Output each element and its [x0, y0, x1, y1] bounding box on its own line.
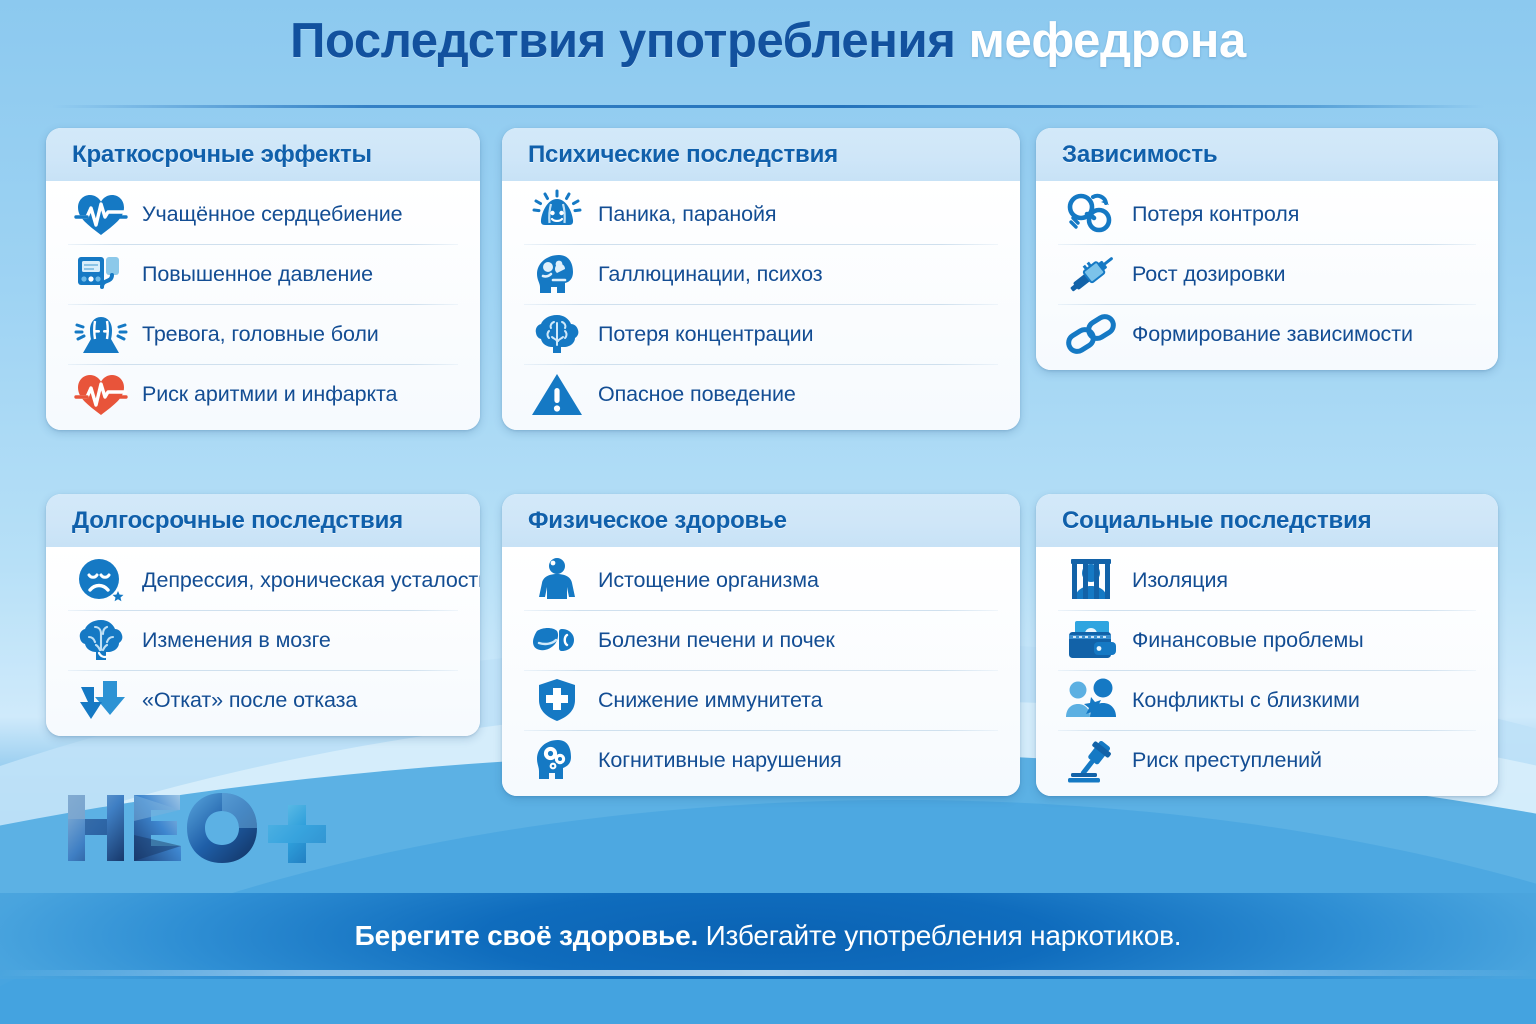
card-long-term-consequences: Долгосрочные последствия Депрессия, хрон…	[46, 494, 480, 736]
footer-regular-text: Избегайте употребления наркотиков.	[706, 920, 1182, 951]
card-dependence: Зависимость Потеря контроля Рост дозиров…	[1036, 128, 1498, 370]
neo-plus-logo	[62, 789, 332, 867]
card-body: Изоляция Финансовые проблемы Конфликты с…	[1036, 547, 1498, 796]
card-title: Физическое здоровье	[528, 507, 1020, 535]
syringe-icon	[1058, 244, 1124, 304]
list-item[interactable]: Изменения в мозге	[46, 610, 480, 670]
card-title: Зависимость	[1062, 141, 1498, 169]
list-item-label: Повышенное давление	[134, 262, 373, 287]
down-arrows-icon	[68, 670, 134, 730]
list-item-label: Учащённое сердцебиение	[134, 202, 403, 227]
list-item[interactable]: Потеря концентрации	[502, 304, 1020, 364]
list-item-label: Болезни печени и почек	[590, 628, 835, 653]
anxious-head-icon	[68, 304, 134, 364]
list-item-label: Риск преступлений	[1124, 748, 1322, 773]
list-item[interactable]: Паника, паранойя	[502, 184, 1020, 244]
list-item-label: Изменения в мозге	[134, 628, 331, 653]
list-item[interactable]: Рост дозировки	[1036, 244, 1498, 304]
chain-link-icon	[1058, 304, 1124, 364]
heart-attack-red-icon	[68, 364, 134, 424]
card-header: Физическое здоровье	[502, 494, 1020, 547]
hallucinating-head-icon	[524, 244, 590, 304]
list-item[interactable]: Когнитивные нарушения	[502, 730, 1020, 790]
liver-kidney-icon	[524, 610, 590, 670]
list-item-label: Опасное поведение	[590, 382, 796, 407]
list-item-label: Потеря контроля	[1124, 202, 1299, 227]
footer-bold-text: Берегите своё здоровье.	[355, 920, 706, 951]
list-item-label: «Откат» после отказа	[134, 688, 357, 713]
list-item-label: Истощение организма	[590, 568, 819, 593]
heart-pulse-icon	[68, 184, 134, 244]
footer-gloss-line	[0, 970, 1536, 976]
list-item[interactable]: Формирование зависимости	[1036, 304, 1498, 364]
list-item[interactable]: Риск преступлений	[1036, 730, 1498, 790]
card-physical-health: Физическое здоровье Истощение организма …	[502, 494, 1020, 796]
list-item[interactable]: Депрессия, хроническая усталость	[46, 550, 480, 610]
list-item[interactable]: Конфликты с близкими	[1036, 670, 1498, 730]
list-item[interactable]: Риск аритмии и инфаркта	[46, 364, 480, 424]
panic-figure-icon	[524, 184, 590, 244]
brain-changes-icon	[68, 610, 134, 670]
list-item[interactable]: «Откат» после отказа	[46, 670, 480, 730]
list-item[interactable]: Снижение иммунитета	[502, 670, 1020, 730]
card-title: Долгосрочные последствия	[72, 507, 480, 535]
list-item[interactable]: Тревога, головные боли	[46, 304, 480, 364]
handcuffs-icon	[1058, 184, 1124, 244]
list-item[interactable]: Изоляция	[1036, 550, 1498, 610]
list-item-label: Финансовые проблемы	[1124, 628, 1364, 653]
list-item-label: Потеря концентрации	[590, 322, 813, 347]
card-short-term-effects: Краткосрочные эффекты Учащённое сердцеби…	[46, 128, 480, 430]
card-body: Истощение организма Болезни печени и поч…	[502, 547, 1020, 796]
list-item[interactable]: Болезни печени и почек	[502, 610, 1020, 670]
card-social-consequences: Социальные последствия Изоляция Финансов…	[1036, 494, 1498, 796]
list-item-label: Риск аритмии и инфаркта	[134, 382, 397, 407]
thin-person-icon	[524, 550, 590, 610]
card-mental-consequences: Психические последствия Паника, паранойя…	[502, 128, 1020, 430]
card-body: Депрессия, хроническая усталость Изменен…	[46, 547, 480, 736]
list-item-label: Когнитивные нарушения	[590, 748, 842, 773]
card-header: Зависимость	[1036, 128, 1498, 181]
brain-icon	[524, 304, 590, 364]
sad-face-icon	[68, 550, 134, 610]
list-item-label: Изоляция	[1124, 568, 1228, 593]
cards-grid: Краткосрочные эффекты Учащённое сердцеби…	[0, 0, 1536, 1024]
card-title: Психические последствия	[528, 141, 1020, 169]
card-title: Социальные последствия	[1062, 507, 1498, 535]
footer-banner: Берегите своё здоровье. Избегайте употре…	[0, 893, 1536, 979]
card-header: Краткосрочные эффекты	[46, 128, 480, 181]
gavel-icon	[1058, 730, 1124, 790]
card-header: Долгосрочные последствия	[46, 494, 480, 547]
list-item[interactable]: Истощение организма	[502, 550, 1020, 610]
list-item[interactable]: Повышенное давление	[46, 244, 480, 304]
list-item[interactable]: Финансовые проблемы	[1036, 610, 1498, 670]
shield-cross-icon	[524, 670, 590, 730]
card-body: Паника, паранойя Галлюцинации, психоз По…	[502, 181, 1020, 430]
conflict-people-icon	[1058, 670, 1124, 730]
wallet-icon	[1058, 610, 1124, 670]
card-body: Учащённое сердцебиение Повышенное давлен…	[46, 181, 480, 430]
list-item[interactable]: Галлюцинации, психоз	[502, 244, 1020, 304]
warning-triangle-icon	[524, 364, 590, 424]
card-title: Краткосрочные эффекты	[72, 141, 480, 169]
blood-pressure-monitor-icon	[68, 244, 134, 304]
list-item[interactable]: Потеря контроля	[1036, 184, 1498, 244]
list-item[interactable]: Учащённое сердцебиение	[46, 184, 480, 244]
card-body: Потеря контроля Рост дозировки Формирова…	[1036, 181, 1498, 370]
list-item-label: Тревога, головные боли	[134, 322, 379, 347]
prison-bars-person-icon	[1058, 550, 1124, 610]
list-item-label: Формирование зависимости	[1124, 322, 1413, 347]
list-item[interactable]: Опасное поведение	[502, 364, 1020, 424]
list-item-label: Рост дозировки	[1124, 262, 1285, 287]
list-item-label: Галлюцинации, психоз	[590, 262, 823, 287]
card-header: Социальные последствия	[1036, 494, 1498, 547]
list-item-label: Депрессия, хроническая усталость	[134, 568, 480, 593]
list-item-label: Снижение иммунитета	[590, 688, 823, 713]
list-item-label: Конфликты с близкими	[1124, 688, 1360, 713]
head-gears-icon	[524, 730, 590, 790]
list-item-label: Паника, паранойя	[590, 202, 776, 227]
card-header: Психические последствия	[502, 128, 1020, 181]
